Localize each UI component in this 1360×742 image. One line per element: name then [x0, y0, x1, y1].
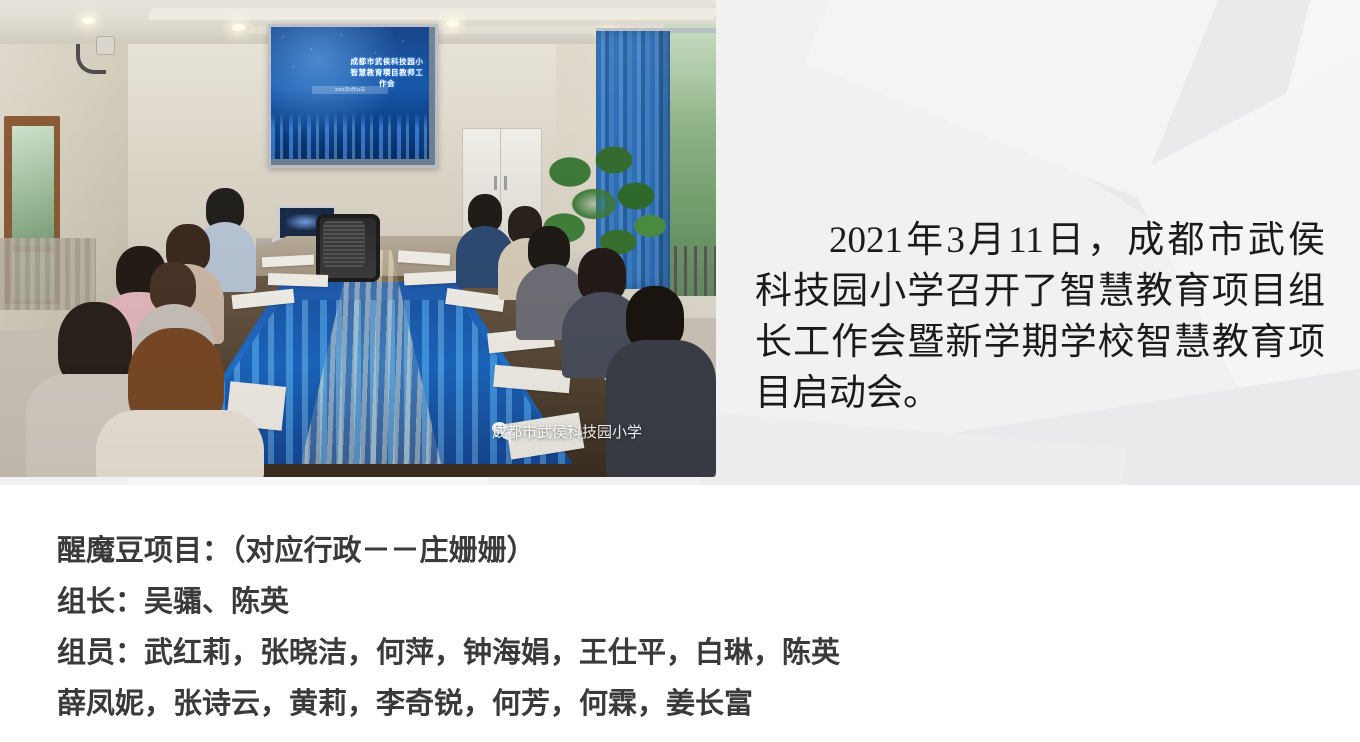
- watermark-label: 成都市武侯科技园小学: [492, 421, 642, 442]
- ceiling-beam: [148, 8, 716, 20]
- participant-left-6-body: [96, 410, 264, 477]
- balcony-railing: [664, 246, 716, 296]
- meeting-photo: 成都市武侯科技园小学 智慧教育项目教师工作会 2021年3月11日: [0, 0, 716, 477]
- document-on-table: [268, 273, 328, 287]
- ceiling-light-3: [446, 20, 459, 27]
- roster-leader-line: 组长：吴骦、陈英: [57, 576, 840, 627]
- roster-member-line-1: 组员：武红莉，张晓洁，何萍，钟海娟，王仕平，白琳，陈英: [57, 627, 840, 678]
- ceiling-light-2: [232, 24, 245, 31]
- presentation-slide: 成都市武侯科技园小学 智慧教育项目教师工作会 2021年3月11日: [0, 0, 1360, 742]
- roster-project-line: 醒魔豆项目：（对应行政－－庄姗姗）: [57, 525, 840, 576]
- projection-screen-title: 成都市武侯科技园小学 智慧教育项目教师工作会: [276, 56, 424, 67]
- upper-content-band: 成都市武侯科技园小学 智慧教育项目教师工作会 2021年3月11日: [0, 0, 1360, 485]
- cabinet-handle-right: [504, 176, 507, 190]
- security-camera-icon: [96, 36, 115, 55]
- wechat-watermark: 成都市武侯科技园小学: [492, 422, 514, 440]
- office-chair-mesh: [323, 221, 365, 267]
- roster-section: 醒魔豆项目：（对应行政－－庄姗姗） 组长：吴骦、陈英 组员：武红莉，张晓洁，何萍…: [0, 485, 1360, 742]
- roster-member-line-2: 薛凤妮，张诗云，黄莉，李奇锐，何芳，何霖，姜长富: [57, 678, 840, 729]
- ceiling-light-1: [82, 17, 95, 24]
- left-radiator: [0, 238, 96, 310]
- projection-subtitle: 2021年3月11日: [312, 86, 388, 94]
- projection-screen-skyline: [271, 112, 429, 159]
- cabinet-handle-left: [494, 176, 497, 190]
- door-glass-upper: [12, 126, 54, 246]
- intro-paragraph: 2021年3月11日，成都市武侯科技园小学召开了智慧教育项目组长工作会暨新学期学…: [755, 215, 1325, 419]
- participant-right-5-body: [606, 340, 716, 477]
- roster-text: 醒魔豆项目：（对应行政－－庄姗姗） 组长：吴骦、陈英 组员：武红莉，张晓洁，何萍…: [57, 525, 840, 729]
